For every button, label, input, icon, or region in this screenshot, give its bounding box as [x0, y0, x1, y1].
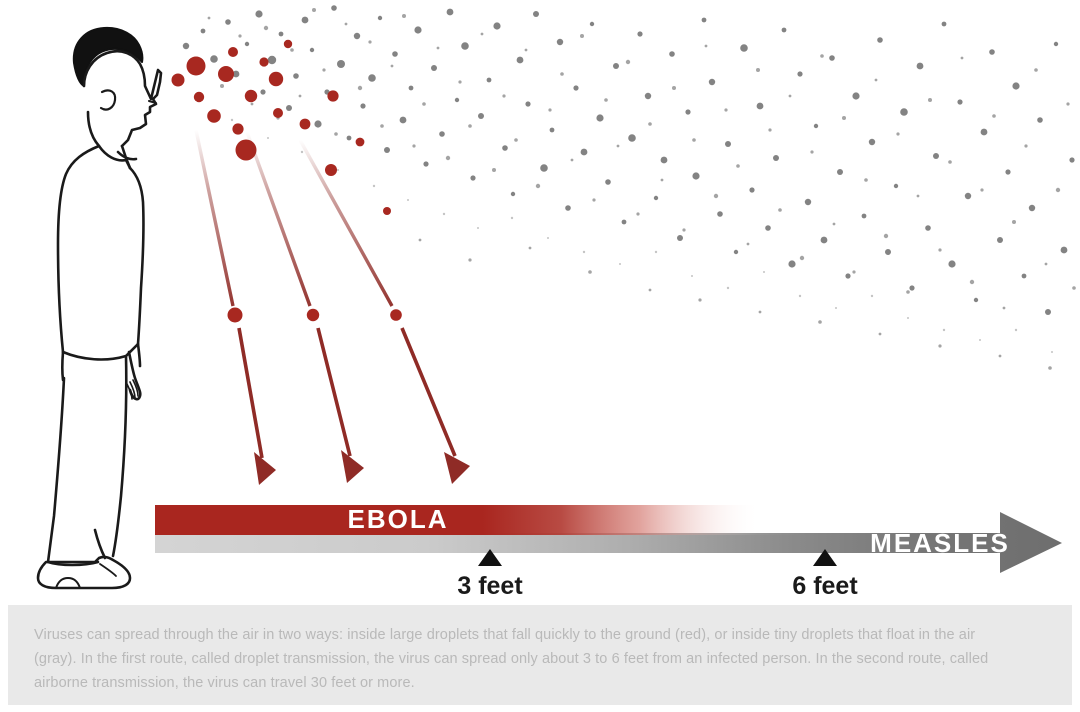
- fall-arrowhead-3: [444, 452, 470, 484]
- tick-label-3-feet: 3 feet: [457, 572, 523, 600]
- shoe: [38, 557, 130, 588]
- neck-back: [88, 112, 99, 146]
- trouser-back: [48, 378, 64, 562]
- infographic-root: EBOLA MEASLES 3 feet 6 feet Viruses can …: [0, 0, 1080, 712]
- fall-trail-1: [196, 130, 233, 306]
- fall-droplet-3: [390, 309, 402, 321]
- caption-text: Viruses can spread through the air in tw…: [34, 623, 1019, 695]
- arm-line: [138, 344, 140, 366]
- shoe-detail: [56, 578, 80, 588]
- fall-arrow-shaft-2: [318, 328, 350, 456]
- ebola-red-band: [155, 505, 810, 535]
- shoe-seam: [100, 564, 116, 576]
- jacket-hem-back: [62, 352, 63, 380]
- ear: [101, 90, 115, 109]
- droplet-fall-paths: [196, 130, 470, 485]
- ebola-label: EBOLA: [348, 504, 449, 534]
- fall-trail-3: [300, 140, 392, 306]
- infected-person: [38, 28, 161, 588]
- caption-panel: Viruses can spread through the air in tw…: [8, 605, 1072, 705]
- fall-droplet-1: [228, 308, 243, 323]
- collar-fold: [118, 152, 136, 159]
- jacket-front: [130, 168, 143, 344]
- fall-arrow-shaft-1: [239, 328, 262, 458]
- face-profile: [84, 51, 161, 146]
- measles-label: MEASLES: [870, 528, 1010, 558]
- distance-scale-bar: EBOLA MEASLES 3 feet 6 feet: [155, 504, 1062, 600]
- trouser-crease: [95, 530, 105, 558]
- fall-arrowhead-1: [254, 452, 276, 485]
- fall-droplet-2: [307, 309, 319, 321]
- jacket-back: [58, 146, 99, 352]
- trouser-front: [113, 356, 126, 556]
- tick-label-6-feet: 6 feet: [792, 572, 858, 600]
- large-red-droplets: [172, 40, 392, 215]
- fall-trail-2: [247, 132, 310, 306]
- transmission-illustration: EBOLA MEASLES 3 feet 6 feet: [0, 0, 1080, 605]
- fall-arrowhead-2: [341, 450, 364, 483]
- fall-arrow-shaft-3: [402, 328, 455, 456]
